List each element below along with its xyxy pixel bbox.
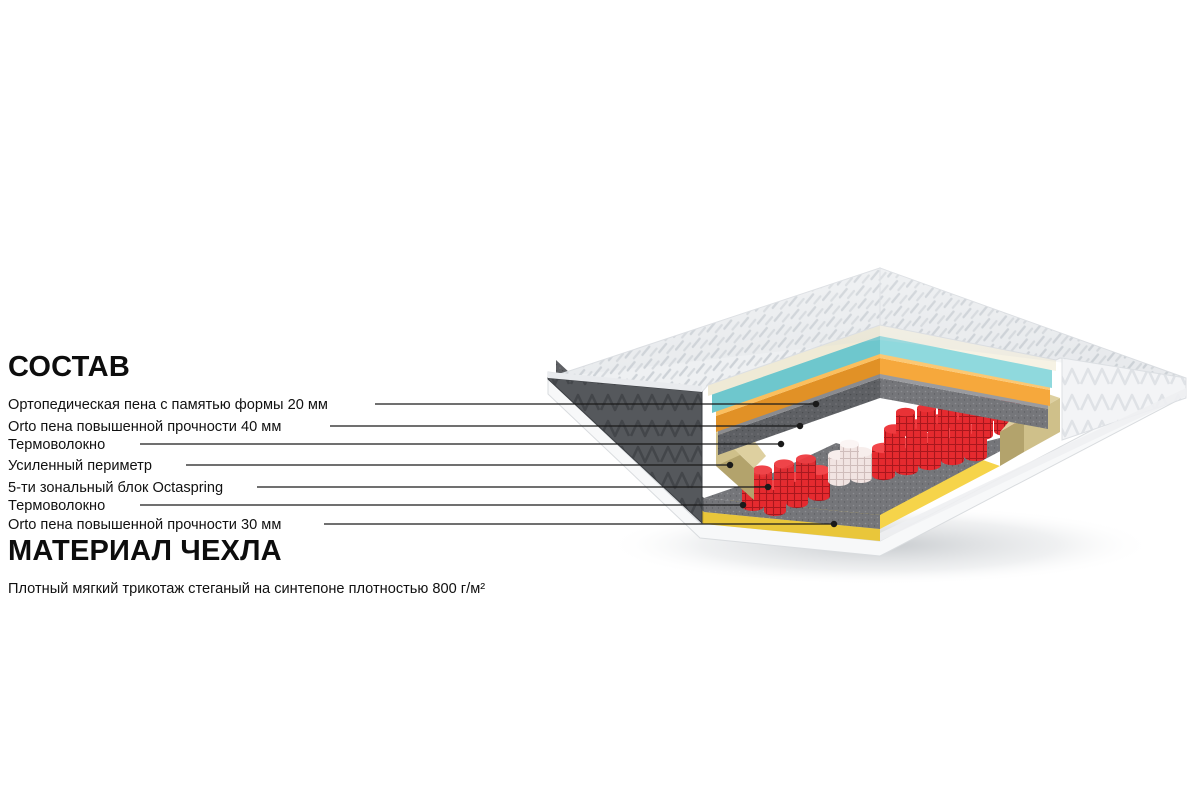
spec-label-perimeter: Усиленный периметр (8, 459, 152, 474)
spec-label-octaspring: 5-ти зональный блок Octaspring (8, 481, 223, 496)
diagram-canvas: СОСТАВ Ортопедическая пена с памятью фор… (0, 0, 1191, 794)
spec-label-orto-foam-30: Orto пена повышенной прочности 30 мм (8, 518, 281, 533)
cover-material-heading: МАТЕРИАЛ ЧЕХЛА (8, 537, 282, 566)
cover-material-description: Плотный мягкий трикотаж стеганый на синт… (8, 582, 485, 597)
spec-label-orto-foam-40: Orto пена повышенной прочности 40 мм (8, 420, 281, 435)
spec-label-thermo-top: Термоволокно (8, 438, 105, 453)
cover-side-left-dark (548, 378, 702, 523)
spec-label-thermo-bottom: Термоволокно (8, 499, 105, 514)
composition-heading: СОСТАВ (8, 353, 130, 382)
spec-label-memory-foam: Ортопедическая пена с памятью формы 20 м… (8, 398, 328, 413)
